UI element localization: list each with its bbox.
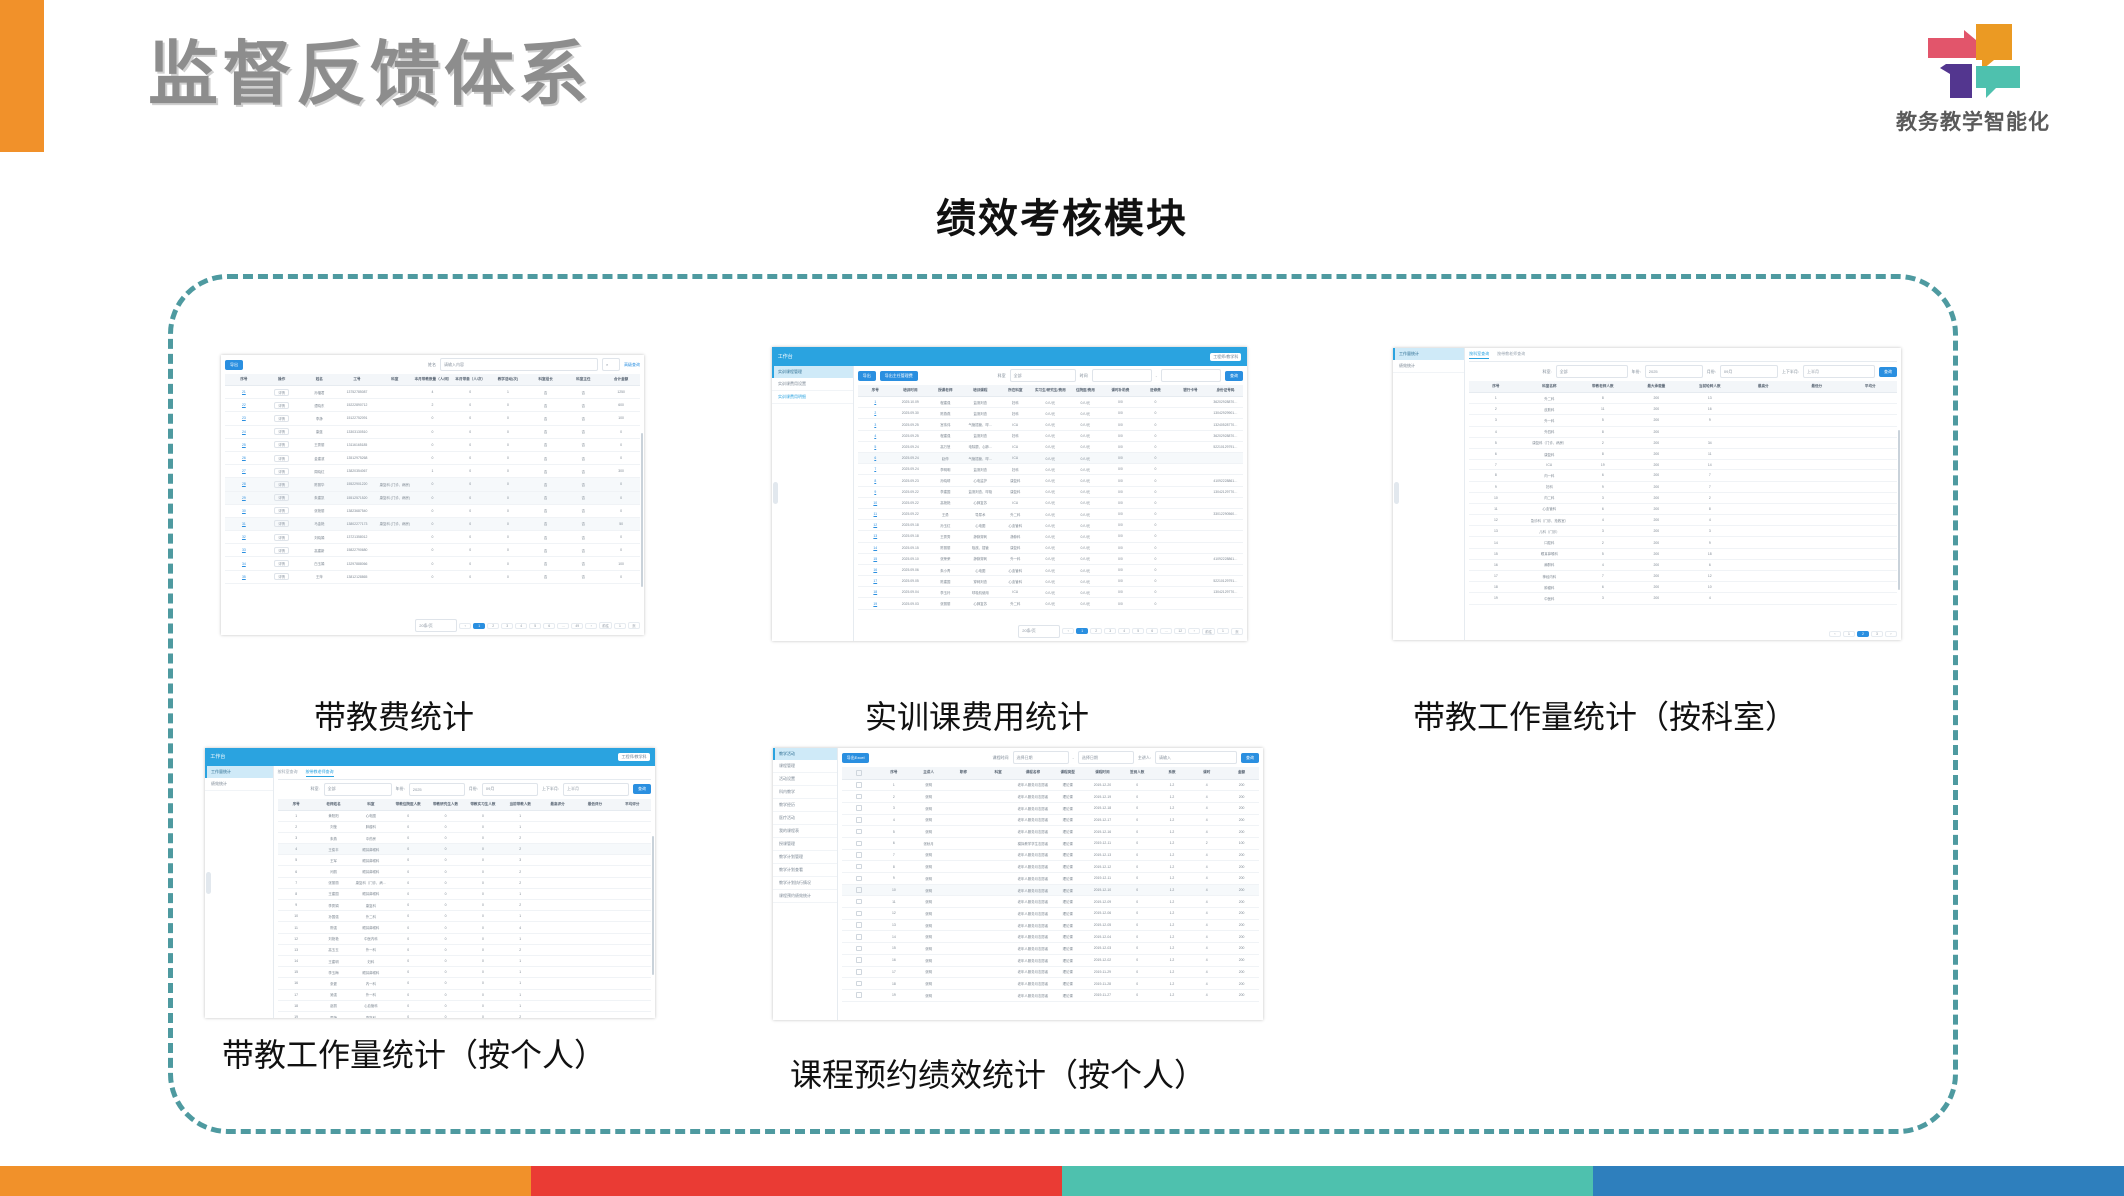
table-row[interactable]: 152025.09.10张荣荣静脉穿刺外一科0人/元0人/元0/00410922…: [858, 553, 1243, 564]
table-row[interactable]: 16张健内一科0001: [278, 978, 652, 989]
sidebar-item[interactable]: 医疗活动: [773, 812, 837, 825]
row-checkbox[interactable]: [856, 969, 862, 975]
sidebar-item[interactable]: 科内教学: [773, 786, 837, 799]
table-cell: 眼耳鼻喉科: [352, 888, 389, 899]
table-row[interactable]: 6闫丽眼耳鼻喉科0002: [278, 866, 652, 877]
table-row[interactable]: 4王俊丰眼耳鼻喉科0002: [278, 844, 652, 855]
table-row[interactable]: 26详情金建滨13512975268000否否0: [225, 451, 640, 464]
export-button[interactable]: 导出: [858, 371, 876, 381]
table-row[interactable]: 3朱燕中药房0002: [278, 832, 652, 843]
table-cell: [539, 832, 576, 843]
goto-label[interactable]: 前往: [1202, 628, 1215, 635]
table-row[interactable]: 92025.09.22李建国监测判查、呼吸康复科0人/元0人/元0/001304…: [858, 486, 1243, 497]
month-select[interactable]: 09月: [482, 783, 538, 796]
table-row[interactable]: 5康复科（门诊、病房）220034: [1469, 437, 1897, 448]
collapse-handle[interactable]: [206, 872, 211, 894]
page-button[interactable]: 2: [1090, 628, 1102, 634]
row-checkbox[interactable]: [856, 992, 862, 998]
row-checkbox[interactable]: [856, 864, 862, 870]
table-cell: [1844, 415, 1898, 426]
table-cell: 0: [489, 531, 527, 544]
table-cell: 监测判查、呼吸: [963, 486, 998, 497]
table-cell: 2: [278, 821, 315, 832]
table-row[interactable]: 17吴强外一科0001: [278, 989, 652, 1000]
table-row[interactable]: 13张明老年人服务月志愿者理论课2019-12-0501.24200: [842, 919, 1259, 931]
table-cell: 0/0: [1103, 508, 1138, 519]
search-button[interactable]: 查询: [633, 784, 651, 794]
vertical-scrollbar[interactable]: [641, 433, 643, 587]
table-row[interactable]: 42025.09.25程建强监测判查妇科0人/元0人/元0/0036202928…: [858, 430, 1243, 441]
table-cell: 8: [1683, 503, 1736, 514]
shot2-pagination[interactable]: 20条/页‹123456…12›前往1页: [858, 622, 1243, 638]
sidebar-item[interactable]: 教学计划执行情况: [773, 877, 837, 890]
row-checkbox[interactable]: [856, 794, 862, 800]
row-checkbox[interactable]: [856, 887, 862, 893]
row-checkbox[interactable]: [856, 934, 862, 940]
table-row[interactable]: 18赵丽心血管科0001: [278, 1000, 652, 1011]
tab-by-department[interactable]: 按科室查询: [278, 769, 298, 777]
table-header-row: 序号操作姓名工号科室本月带教数量（人/间）本月带患（人/次）教学活动(次)科室组…: [225, 374, 640, 386]
sidebar-item[interactable]: 活动设置: [773, 773, 837, 786]
table-cell: 理论课: [1050, 861, 1085, 873]
table-cell: 0: [464, 810, 501, 821]
table-row[interactable]: 9妇科92007: [1469, 481, 1897, 492]
table-row[interactable]: 7ICU1920014: [1469, 460, 1897, 470]
goto-page-input[interactable]: 1: [1217, 628, 1229, 634]
detail-button[interactable]: 详情: [274, 494, 289, 501]
table-row[interactable]: 19中医科32004: [1469, 593, 1897, 604]
date-start-input[interactable]: 选择日期: [1013, 751, 1069, 764]
table-row[interactable]: 32详情刘晓娟13721358012000否否0: [225, 531, 640, 544]
tab-by-teacher[interactable]: 按带教老师查询: [306, 769, 334, 777]
table-cell: 否: [564, 386, 602, 399]
detail-button[interactable]: 详情: [274, 560, 289, 567]
table-row[interactable]: 30详情张艳丽13823687540000否否0: [225, 504, 640, 517]
halfmonth-filter-label: 上下半月:: [1782, 369, 1799, 375]
advanced-search-link[interactable]: 高级查询: [624, 362, 640, 368]
table-row[interactable]: 11张明老年人服务月志愿者理论课2019-12-0901.24200: [842, 896, 1259, 908]
table-cell: 中医科: [1523, 593, 1576, 604]
sidebar-item[interactable]: 我的课程表: [773, 825, 837, 838]
table-cell: [1844, 448, 1898, 459]
year-select[interactable]: 2025: [1645, 365, 1703, 378]
table-cell: 8: [1576, 393, 1629, 404]
page-button[interactable]: 4: [515, 623, 527, 629]
table-cell: 200: [1224, 908, 1259, 920]
table-row[interactable]: 132025.09.18王秀秀静脉穿刺静脉科0人/元0人/元0/00: [858, 531, 1243, 542]
table-row[interactable]: 2张明老年人服务月志愿者理论课2019-12-1901.24200: [842, 791, 1259, 803]
sidebar-item-performance[interactable]: 绩效统计: [1393, 360, 1464, 373]
screenshot-card-shixunke[interactable]: 工作台 工程师/教学科 实训课程管理 实训课费用设置 实训课费用明细 导出 导出…: [772, 347, 1247, 641]
table-row[interactable]: 3张明老年人服务月志愿者理论课2019-12-1801.24200: [842, 802, 1259, 814]
last-page-button[interactable]: 12: [1174, 628, 1186, 634]
detail-button[interactable]: 详情: [274, 547, 289, 554]
detail-button[interactable]: 详情: [274, 520, 289, 527]
table-row[interactable]: 182025.09.04李玉玲呼吸机使用ICU0人/元0人/元0/0013042…: [858, 587, 1243, 598]
detail-button[interactable]: 详情: [274, 389, 289, 396]
user-menu[interactable]: 工程师/教学科: [618, 753, 649, 761]
table-row[interactable]: 9李秀娟康复科0002: [278, 900, 652, 911]
table-cell: 0人/元: [1033, 475, 1068, 486]
table-row[interactable]: 22025.09.30陈燕燕监测判查妇科0人/元0人/元0/0013042929…: [858, 408, 1243, 419]
table-row[interactable]: 25详情王秀丽13116165185000否否0: [225, 438, 640, 451]
goto-unit[interactable]: 页: [1231, 628, 1243, 635]
export-button[interactable]: 导出: [225, 360, 243, 370]
table-cell: 心血管科: [1523, 503, 1576, 514]
halfmonth-select[interactable]: 上半月: [1803, 365, 1875, 378]
table-cell: [1173, 419, 1208, 430]
select-all-checkbox[interactable]: [856, 770, 862, 776]
table-cell: 2019-12-11: [1085, 873, 1120, 885]
table-cell: 17: [278, 989, 315, 1000]
table-cell: [981, 861, 1016, 873]
table-cell: 眼耳鼻喉科: [352, 967, 389, 978]
page-button[interactable]: 3: [501, 623, 513, 629]
table-row[interactable]: 17神经内科720012: [1469, 571, 1897, 582]
table-row[interactable]: 14张明老年人服务月志愿者理论课2019-12-0401.24200: [842, 931, 1259, 943]
table-cell: 康复科（门诊、病房）: [1523, 437, 1576, 448]
table-row[interactable]: 13高玉玉外一科0002: [278, 944, 652, 955]
halfmonth-select[interactable]: 上半月: [563, 783, 629, 796]
table-cell: 200: [1224, 978, 1259, 990]
table-row[interactable]: 11心血管科62008: [1469, 503, 1897, 514]
page-ellipsis[interactable]: …: [1160, 628, 1172, 634]
row-checkbox[interactable]: [856, 782, 862, 788]
collapse-handle[interactable]: [773, 482, 778, 504]
table-row[interactable]: 82025.09.23孙晓晴心电监护康复科0人/元0人/元0/004109222…: [858, 475, 1243, 486]
table-cell: 康复科: [352, 1011, 389, 1018]
table-cell: 0: [390, 888, 427, 899]
table-cell: [539, 933, 576, 944]
detail-button[interactable]: 详情: [274, 481, 289, 488]
page-button[interactable]: 6: [543, 623, 555, 629]
table-row[interactable]: 2刘莹肿瘤科0001: [278, 821, 652, 832]
table-cell: [1173, 497, 1208, 508]
date-end-input[interactable]: 选择日期: [1078, 751, 1134, 764]
row-checkbox[interactable]: [856, 817, 862, 823]
table-cell: [842, 954, 877, 966]
table-cell: [376, 544, 414, 557]
detail-button[interactable]: 详情: [274, 428, 289, 435]
table-row[interactable]: 172025.09.05陈建国穿刺判查心血管科0人/元0人/元0/0052210…: [858, 576, 1243, 587]
sidebar-item[interactable]: 授课管理: [773, 838, 837, 851]
screenshot-card-workload-dept[interactable]: 工作量统计 绩效统计 按科室查询 按带教老师查询 科室: 全部 年份: 2025…: [1393, 348, 1901, 640]
vertical-scrollbar[interactable]: [652, 836, 654, 975]
table-row[interactable]: 142025.09.15陈丽丽吸痰、插管康复科0人/元0人/元0/00: [858, 542, 1243, 553]
detail-button[interactable]: 详情: [274, 573, 289, 580]
table-row[interactable]: 112025.09.22王勇导尿术外二科0人/元0人/元0/0033012290…: [858, 508, 1243, 519]
table-row[interactable]: 28详情陈丽华15522901220康复科 (门诊、病房)000否否0: [225, 478, 640, 491]
table-cell: [1844, 548, 1898, 559]
detail-button[interactable]: 详情: [274, 534, 289, 541]
row-checkbox[interactable]: [856, 876, 862, 882]
table-row[interactable]: 16张明老年人服务月志愿者理论课2019-12-0201.24200: [842, 954, 1259, 966]
prev-page-button[interactable]: ‹: [1062, 628, 1074, 634]
table-row[interactable]: 10孙国强外二科0001: [278, 911, 652, 922]
screenshot-card-course-booking[interactable]: 教学活动 课程管理活动设置科内教学教学经历医疗活动我的课程表授课管理教学计划管理…: [773, 748, 1263, 1020]
prev-page-button[interactable]: ‹: [1829, 631, 1841, 637]
page-button[interactable]: 1: [1076, 628, 1088, 634]
table-cell: 2: [502, 877, 539, 888]
table-row[interactable]: 5张明老年人服务月志愿者理论课2019-12-1601.24200: [842, 826, 1259, 838]
table-row[interactable]: 10张明老年人服务月志愿者理论课2019-12-1001.24200: [842, 884, 1259, 896]
row-checkbox[interactable]: [856, 841, 862, 847]
page-button[interactable]: 2: [487, 623, 499, 629]
row-checkbox[interactable]: [856, 911, 862, 917]
table-row[interactable]: 15眼耳鼻喉科520018: [1469, 548, 1897, 559]
table-row[interactable]: 4张明老年人服务月志愿者理论课2019-12-1701.24200: [842, 814, 1259, 826]
table-row[interactable]: 32025.09.25宫伟伟气管插管、呼…ICU0人/元0人/元0/001324…: [858, 419, 1243, 430]
table-row[interactable]: 62025.09.24赵停气管插管、呼…ICU0人/元0人/元0/00: [858, 453, 1243, 464]
table-row[interactable]: 1张明老年人服务月志愿者理论课2019-12-2001.24200: [842, 779, 1259, 791]
last-page-button[interactable]: 49: [571, 623, 583, 629]
sidebar-item[interactable]: 教学计划查看: [773, 864, 837, 877]
table-row[interactable]: 34详情白玉娟13297888066000否否100: [225, 557, 640, 570]
table-cell: 0人/元: [1068, 542, 1103, 553]
table-cell: 4: [1189, 791, 1224, 803]
table-cell: 4: [1189, 779, 1224, 791]
page-size-select[interactable]: 20条/页: [1018, 625, 1060, 638]
table-row[interactable]: 17张明老年人服务月志愿者理论课2019-11-2901.24200: [842, 966, 1259, 978]
vertical-scrollbar[interactable]: [1898, 430, 1900, 591]
table-cell: 心电监护: [963, 475, 998, 486]
page-ellipsis[interactable]: …: [557, 623, 569, 629]
table-body: 1张明老年人服务月志愿者理论课2019-12-2001.242002张明老年人服…: [842, 779, 1259, 1001]
table-row[interactable]: 3外一科52009: [1469, 415, 1897, 426]
table-cell: 200: [1630, 515, 1683, 526]
table-cell: 0: [390, 810, 427, 821]
table-row[interactable]: 12急诊科（门诊、抢救室）42004: [1469, 515, 1897, 526]
table-row[interactable]: 192025.09.03张丽丽心肺复苏外二科0人/元0人/元0/00: [858, 598, 1243, 609]
export-director-fee-button[interactable]: 导出主任管理费: [880, 371, 918, 381]
table-row[interactable]: 19张明老年人服务月志愿者理论课2019-11-2701.24200: [842, 989, 1259, 1001]
row-checkbox[interactable]: [856, 957, 862, 963]
table-cell: 康复科 (门诊、病房): [376, 517, 414, 530]
sidebar-item[interactable]: 教学经历: [773, 799, 837, 812]
table-cell: 15512571520: [338, 491, 376, 504]
next-page-button[interactable]: ›: [1188, 628, 1200, 634]
export-excel-button[interactable]: 导出Excel: [842, 753, 870, 763]
row-checkbox[interactable]: [856, 829, 862, 835]
table-cell: 5: [278, 855, 315, 866]
detail-button[interactable]: 详情: [274, 507, 289, 514]
table-cell: 朱燕: [315, 832, 352, 843]
table-cell: 0: [1138, 542, 1173, 553]
table-cell: 0: [427, 911, 464, 922]
date-start-input[interactable]: [1092, 369, 1152, 382]
table-cell: 理论课: [1050, 791, 1085, 803]
table-row[interactable]: 5王军眼耳鼻喉科0003: [278, 855, 652, 866]
table-cell: 2025.09.04: [893, 587, 928, 598]
search-button[interactable]: 查询: [1879, 367, 1897, 377]
table-row[interactable]: 102025.09.22高艳艳心肺复苏ICU0人/元0人/元0/00: [858, 497, 1243, 508]
dept-select[interactable]: 全部: [1556, 365, 1628, 378]
table-row[interactable]: 1外二科820013: [1469, 393, 1897, 404]
table-cell: 张艳丽: [300, 504, 338, 517]
page-button[interactable]: 1: [1843, 631, 1855, 637]
table-row[interactable]: 15张明老年人服务月志愿者理论课2019-12-0301.24200: [842, 943, 1259, 955]
table-cell: 0人/元: [1068, 441, 1103, 452]
detail-button[interactable]: 详情: [274, 455, 289, 462]
table-row[interactable]: 29详情朱建凯15512571520康复科 (门诊、病房)000否否0: [225, 491, 640, 504]
table-row[interactable]: 162025.09.06朱小青心电图心血管科0人/元0人/元0/00: [858, 564, 1243, 575]
search-button[interactable]: 查询: [1225, 371, 1243, 381]
sidebar-item-performance[interactable]: 绩效统计: [205, 778, 273, 791]
table-row[interactable]: 4外四科8200: [1469, 426, 1897, 437]
table-cell: 0: [1120, 954, 1155, 966]
shot2-main: 导出 导出主任管理费 科室 全部 时间 - 查询 序号培训时间授课老师培训课程所…: [854, 366, 1247, 641]
row-checkbox[interactable]: [856, 852, 862, 858]
screenshot-card-workload-person[interactable]: 工作台 工程师/教学科 工作量统计 绩效统计 按科室查询 按带教老师查询 科室:…: [205, 748, 655, 1018]
sidebar-item-fee-setting[interactable]: 实训课费用设置: [772, 378, 853, 391]
table-cell: [614, 888, 651, 899]
row-checkbox[interactable]: [856, 981, 862, 987]
tab-by-teacher[interactable]: 按带教老师查询: [1497, 351, 1525, 359]
table-cell: 呼吸机使用: [963, 587, 998, 598]
search-icon[interactable]: ⌕: [602, 358, 620, 371]
sidebar-item-fee-detail[interactable]: 实训课费用明细: [772, 391, 853, 404]
user-menu[interactable]: 工程师/教学科: [1210, 353, 1241, 361]
row-checkbox[interactable]: [856, 922, 862, 928]
table-row[interactable]: 12张明老年人服务月志愿者理论课2019-12-0601.24200: [842, 908, 1259, 920]
year-select[interactable]: 2025: [409, 783, 465, 796]
table-cell: 理论课: [1050, 908, 1085, 920]
table-row[interactable]: 8内一科62007: [1469, 470, 1897, 481]
table-row[interactable]: 22详情谭晓东15222890712200否否600: [225, 399, 640, 412]
shot3-pagination[interactable]: ‹123›: [1469, 628, 1897, 637]
table-cell: 外一科: [352, 989, 389, 1000]
table-cell: 0: [414, 412, 452, 425]
detail-button[interactable]: 详情: [274, 441, 289, 448]
screenshot-card-daijiaofei[interactable]: 导出 姓名 请输入内容 ⌕ 高级查询 序号操作姓名工号科室本月带教数量（人/间）…: [221, 355, 644, 635]
table-row[interactable]: 10内二科32002: [1469, 492, 1897, 503]
table-row[interactable]: 27详情周晓红13820354067100否否300: [225, 465, 640, 478]
table-row[interactable]: 1黄阳阳心电图0001: [278, 810, 652, 821]
page-size-select[interactable]: 20条/页: [415, 619, 457, 632]
page-button[interactable]: 1: [473, 623, 485, 629]
table-row[interactable]: 31详情马金艳13802277173康复科 (门诊、病房)000否否50: [225, 517, 640, 530]
table-cell: 4: [1189, 919, 1224, 931]
sidebar-item[interactable]: 教学计划管理: [773, 851, 837, 864]
table-row[interactable]: 35详情王萍13812128865000否否0: [225, 570, 640, 583]
table-cell: 否: [564, 531, 602, 544]
page-button[interactable]: 3: [1104, 628, 1116, 634]
page-button[interactable]: 4: [1118, 628, 1130, 634]
goto-unit[interactable]: 页: [628, 622, 640, 629]
table-row[interactable]: 2皮肤科1120016: [1469, 404, 1897, 415]
teacher-input[interactable]: 请输入: [1155, 751, 1237, 764]
page-button[interactable]: 5: [529, 623, 541, 629]
month-select[interactable]: 09月: [1720, 365, 1778, 378]
table-row[interactable]: 14口腔科22009: [1469, 537, 1897, 548]
table-cell: 100: [602, 557, 640, 570]
table-row[interactable]: 13儿科（门诊）32003: [1469, 526, 1897, 537]
next-page-button[interactable]: ›: [585, 623, 597, 629]
table-row[interactable]: 122025.09.18孙玉红心电图心血管科0人/元0人/元0/00: [858, 520, 1243, 531]
detail-button[interactable]: 详情: [274, 468, 289, 475]
date-end-input[interactable]: [1161, 369, 1221, 382]
table-row[interactable]: 16麻醉科42006: [1469, 559, 1897, 570]
table-row[interactable]: 21详情孙福君13752785087401否否1250: [225, 386, 640, 399]
page-button[interactable]: 3: [1871, 631, 1883, 637]
row-checkbox[interactable]: [856, 899, 862, 905]
row-checkbox[interactable]: [856, 946, 862, 952]
tab-by-department[interactable]: 按科室查询: [1469, 351, 1489, 359]
table-cell: [1790, 593, 1843, 604]
table-row[interactable]: 18张明老年人服务月志愿者理论课2019-11-2801.24200: [842, 978, 1259, 990]
table-row[interactable]: 7张丽丽康复科（门诊、病…0002: [278, 877, 652, 888]
table-cell: 1.2: [1155, 826, 1190, 838]
table-cell: [576, 866, 613, 877]
detail-button[interactable]: 详情: [274, 415, 289, 422]
table-cell: 18: [858, 587, 893, 598]
table-cell: 1.2: [1155, 954, 1190, 966]
table-row[interactable]: 8张明老年人服务月志愿者理论课2019-12-1201.24200: [842, 861, 1259, 873]
table-cell: [1790, 481, 1843, 492]
table-row[interactable]: 72025.09.24李明明监测判查妇科0人/元0人/元0/00: [858, 464, 1243, 475]
table-row[interactable]: 12025.10.09程建强监测判查妇科0人/元0人/元0/0036202928…: [858, 397, 1243, 408]
table-cell: 4: [1683, 515, 1736, 526]
table-row[interactable]: 7张明老年人服务月志愿者理论课2019-12-1301.24200: [842, 849, 1259, 861]
table-cell: 张明: [911, 966, 946, 978]
page-button[interactable]: 6: [1146, 628, 1158, 634]
table-row[interactable]: 52025.09.24高万慧电除颤、心肺…ICU0人/元0人/元0/005221…: [858, 441, 1243, 452]
collapse-handle[interactable]: [1394, 482, 1399, 504]
detail-button[interactable]: 详情: [274, 402, 289, 409]
table-cell: 理论课: [1050, 826, 1085, 838]
search-input[interactable]: 请输入内容: [440, 358, 598, 371]
sidebar-item[interactable]: 课程管理: [773, 760, 837, 773]
sidebar-item[interactable]: 课程预约绩效统计: [773, 890, 837, 903]
row-checkbox[interactable]: [856, 805, 862, 811]
page-button[interactable]: 5: [1132, 628, 1144, 634]
prev-page-button[interactable]: ‹: [459, 623, 471, 629]
table-cell: 外四科: [1523, 426, 1576, 437]
table-row[interactable]: 8王建国眼耳鼻喉科0001: [278, 888, 652, 899]
shot1-pagination[interactable]: 20条/页‹123456…49›前往1页: [225, 616, 640, 632]
table-cell: 0: [1138, 408, 1173, 419]
table-row[interactable]: 6张秋月模拟教学学生志愿者理论课2019-12-1101.22100: [842, 837, 1259, 849]
table-row[interactable]: 23详情李静15122752091000否否100: [225, 412, 640, 425]
search-button[interactable]: 查询: [1241, 753, 1259, 763]
table-row[interactable]: 33详情高建新15822790680000否否0: [225, 544, 640, 557]
table-cell: [376, 425, 414, 438]
table-cell: 200: [1224, 802, 1259, 814]
table-cell: 200: [1630, 559, 1683, 570]
page-button[interactable]: 2: [1857, 631, 1869, 637]
next-page-button[interactable]: ›: [1885, 631, 1897, 637]
dept-select[interactable]: 全部: [324, 783, 392, 796]
table-cell: 27: [225, 465, 263, 478]
table-row[interactable]: 24详情康蓝13303130510000否否0: [225, 425, 640, 438]
table-row[interactable]: 6康复科820011: [1469, 448, 1897, 459]
table-row[interactable]: 15李玉梅眼耳鼻喉科0001: [278, 967, 652, 978]
table-row[interactable]: 14王建明妇科0001: [278, 955, 652, 966]
table-cell: 2025.09.22: [893, 497, 928, 508]
table-cell: [1844, 470, 1898, 481]
table-row[interactable]: 18肿瘤科620010: [1469, 582, 1897, 593]
table-cell: [1790, 470, 1843, 481]
table-row[interactable]: 9张明老年人服务月志愿者理论课2019-12-1101.24200: [842, 873, 1259, 885]
table-row[interactable]: 11陈强眼耳鼻喉科0004: [278, 922, 652, 933]
dept-select[interactable]: 全部: [1010, 369, 1076, 382]
goto-page-input[interactable]: 1: [614, 623, 626, 629]
table-row[interactable]: 12刘艳艳中医内科0001: [278, 933, 652, 944]
table-cell: 详情: [263, 570, 301, 583]
table-row[interactable]: 19周静康复科0002: [278, 1011, 652, 1018]
table-cell: 0: [451, 570, 489, 583]
goto-label[interactable]: 前往: [599, 622, 612, 629]
